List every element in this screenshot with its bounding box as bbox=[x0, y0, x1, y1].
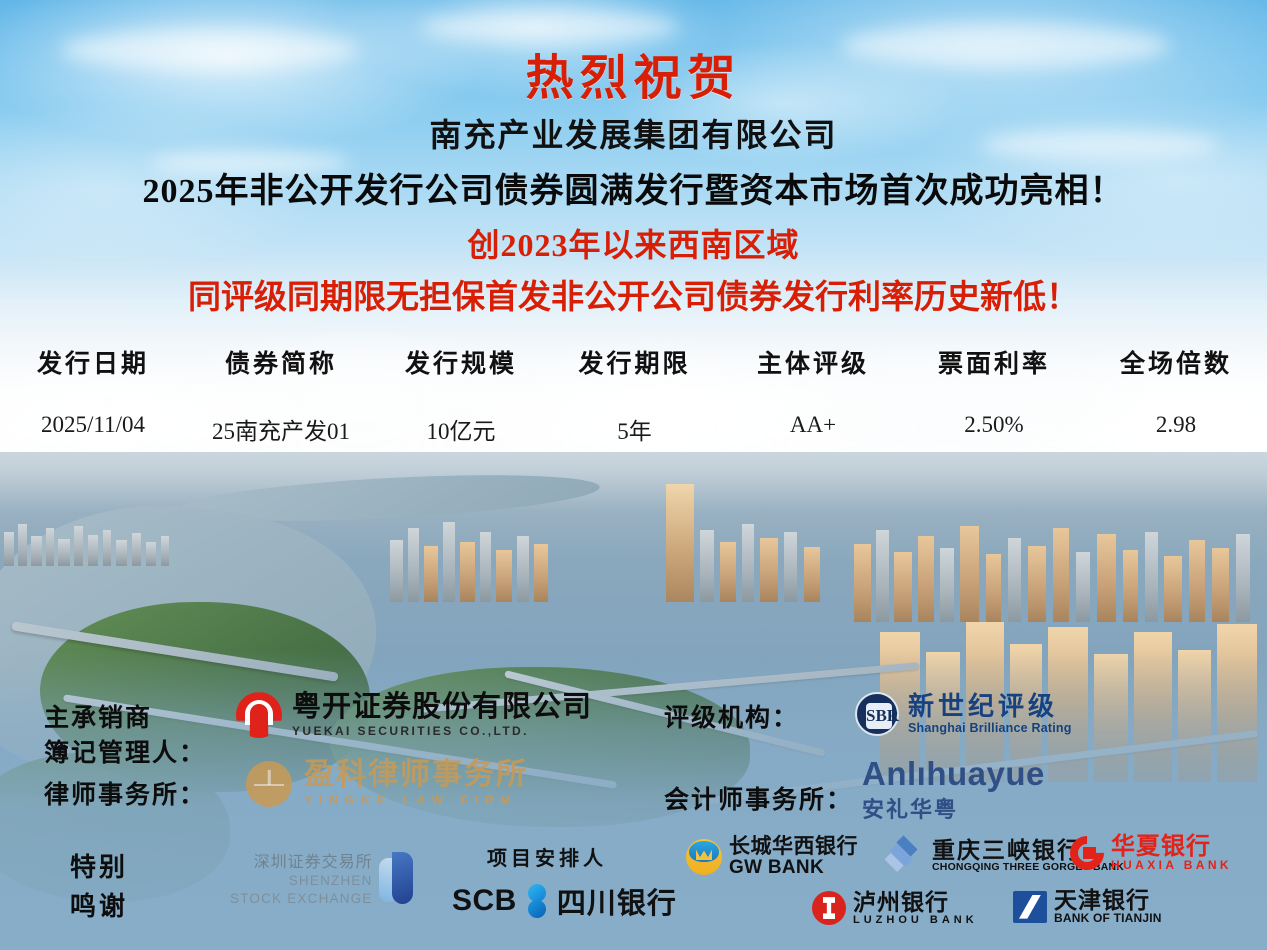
bond-issuance-celebration-poster: 热烈祝贺 南充产业发展集团有限公司 2025年非公开发行公司债券圆满发行暨资本市… bbox=[0, 0, 1267, 950]
szse-name-cn: 深圳证券交易所 bbox=[230, 848, 373, 872]
bank-of-tianjin-mark-icon bbox=[1013, 891, 1047, 923]
scb-name-en: SCB bbox=[452, 884, 517, 918]
brilliance-name-en: Shanghai Brilliance Rating bbox=[908, 721, 1072, 735]
column-header-issue-size: 发行规模 bbox=[376, 344, 546, 380]
yingke-law-firm-logo: 盈科律师事务所 YINGKE LAW FIRM bbox=[246, 760, 528, 807]
table-row: 2025/11/04 25南充产发01 10亿元 5年 AA+ 2.50% 2.… bbox=[0, 412, 1267, 446]
great-wall-west-china-bank-logo: 长城华西银行 GW BANK bbox=[686, 836, 858, 879]
brilliance-seal-monogram: SBR bbox=[866, 703, 892, 729]
table-header-row: 发行日期 债券简称 发行规模 发行期限 主体评级 票面利率 全场倍数 bbox=[0, 344, 1267, 380]
column-header-issue-term: 发行期限 bbox=[546, 344, 723, 380]
arranger-label: 项目安排人 bbox=[487, 842, 607, 871]
cqtg-bank-mark-icon bbox=[885, 841, 925, 871]
yuekai-securities-logo: 粤开证券股份有限公司 YUEKAI SECURITIES CO.,LTD. bbox=[236, 692, 592, 738]
brilliance-name-cn: 新世纪评级 bbox=[908, 693, 1072, 720]
yuekai-mark-icon bbox=[236, 692, 282, 738]
yuekai-name-en: YUEKAI SECURITIES CO.,LTD. bbox=[292, 724, 592, 738]
cell-coupon-rate: 2.50% bbox=[903, 412, 1085, 446]
yuekai-name-cn: 粤开证券股份有限公司 bbox=[292, 692, 592, 722]
luzhou-bank-name-en: LUZHOU BANK bbox=[853, 914, 978, 926]
special-thanks-label: 特别 鸣谢 bbox=[70, 848, 128, 926]
column-header-issue-date: 发行日期 bbox=[0, 344, 186, 380]
anlihuayue-logo: Anlıhuayue 安礼华粤 bbox=[862, 757, 1045, 824]
bank-of-tianjin-logo: 天津银行 BANK OF TIANJIN bbox=[1013, 888, 1162, 925]
huaxia-bank-name-en: HUAXIA BANK bbox=[1111, 859, 1232, 872]
headline-black: 2025年非公开发行公司债券圆满发行暨资本市场首次成功亮相！ bbox=[0, 163, 1267, 212]
cell-subscription-multiple: 2.98 bbox=[1085, 412, 1267, 446]
special-thanks-line1: 特别 bbox=[70, 848, 128, 887]
szse-mark-icon bbox=[379, 852, 413, 904]
special-thanks-line2: 鸣谢 bbox=[70, 887, 128, 926]
column-header-coupon-rate: 票面利率 bbox=[903, 344, 1085, 380]
gw-bank-name-cn: 长城华西银行 bbox=[729, 836, 858, 858]
bank-of-tianjin-name-cn: 天津银行 bbox=[1054, 888, 1162, 912]
scb-mark-icon bbox=[524, 884, 550, 918]
luzhou-bank-name-cn: 泸州银行 bbox=[853, 890, 978, 914]
cell-issue-date: 2025/11/04 bbox=[0, 412, 186, 446]
szse-name-en-line2: STOCK EXCHANGE bbox=[230, 891, 373, 908]
underwriter-label-line2: 簿记管理人： bbox=[44, 733, 206, 769]
headline-red-1: 创2023年以来西南区域 bbox=[0, 220, 1267, 266]
gw-bank-mark-icon bbox=[686, 839, 722, 875]
column-header-bond-name: 债券简称 bbox=[186, 344, 376, 380]
yingke-name-en: YINGKE LAW FIRM bbox=[304, 793, 528, 807]
cell-bond-name: 25南充产发01 bbox=[186, 412, 376, 446]
underwriter-label-line1: 主承销商 bbox=[44, 698, 152, 734]
cell-issue-term: 5年 bbox=[546, 412, 723, 446]
huaxia-bank-logo: 华夏银行 HUAXIA BANK bbox=[1070, 834, 1232, 872]
rating-agency-label: 评级机构： bbox=[664, 698, 799, 734]
gw-bank-name-en: GW BANK bbox=[729, 858, 858, 879]
shanghai-brilliance-rating-logo: SBR 新世纪评级 Shanghai Brilliance Rating bbox=[855, 692, 1072, 736]
bank-of-sichuan-logo: SCB 四川银行 bbox=[452, 880, 677, 922]
brilliance-seal-icon: SBR bbox=[855, 692, 899, 736]
poster-text-layer: 热烈祝贺 南充产业发展集团有限公司 2025年非公开发行公司债券圆满发行暨资本市… bbox=[0, 0, 1267, 950]
law-firm-label: 律师事务所： bbox=[44, 775, 206, 811]
yingke-cube-icon bbox=[246, 761, 292, 807]
szse-name-en-line1: SHENZHEN bbox=[230, 873, 373, 890]
luzhou-bank-mark-icon bbox=[812, 891, 846, 925]
anlihuayue-name-cn: 安礼华粤 bbox=[862, 792, 1045, 824]
cell-issue-size: 10亿元 bbox=[376, 412, 546, 446]
column-header-issuer-rating: 主体评级 bbox=[723, 344, 903, 380]
huaxia-bank-name-cn: 华夏银行 bbox=[1111, 834, 1232, 859]
accounting-firm-label: 会计师事务所： bbox=[664, 780, 853, 816]
cell-issuer-rating: AA+ bbox=[723, 412, 903, 446]
headline-red-2: 同评级同期限无担保首发非公开公司债券发行利率历史新低！ bbox=[0, 270, 1267, 318]
scb-name-cn: 四川银行 bbox=[557, 880, 677, 922]
anlihuayue-name-en: Anlıhuayue bbox=[862, 757, 1045, 790]
celebrate-title: 热烈祝贺 bbox=[0, 38, 1267, 108]
bank-of-tianjin-name-en: BANK OF TIANJIN bbox=[1054, 912, 1162, 925]
column-header-subscription-multiple: 全场倍数 bbox=[1085, 344, 1267, 380]
shenzhen-stock-exchange-logo: 深圳证券交易所 SHENZHEN STOCK EXCHANGE bbox=[230, 848, 413, 908]
huaxia-bank-mark-icon bbox=[1070, 836, 1104, 870]
yingke-name-cn: 盈科律师事务所 bbox=[304, 760, 528, 790]
company-name: 南充产业发展集团有限公司 bbox=[0, 110, 1267, 156]
bond-summary-table: 发行日期 债券简称 发行规模 发行期限 主体评级 票面利率 全场倍数 2025/… bbox=[0, 344, 1267, 446]
luzhou-bank-logo: 泸州银行 LUZHOU BANK bbox=[812, 890, 978, 926]
